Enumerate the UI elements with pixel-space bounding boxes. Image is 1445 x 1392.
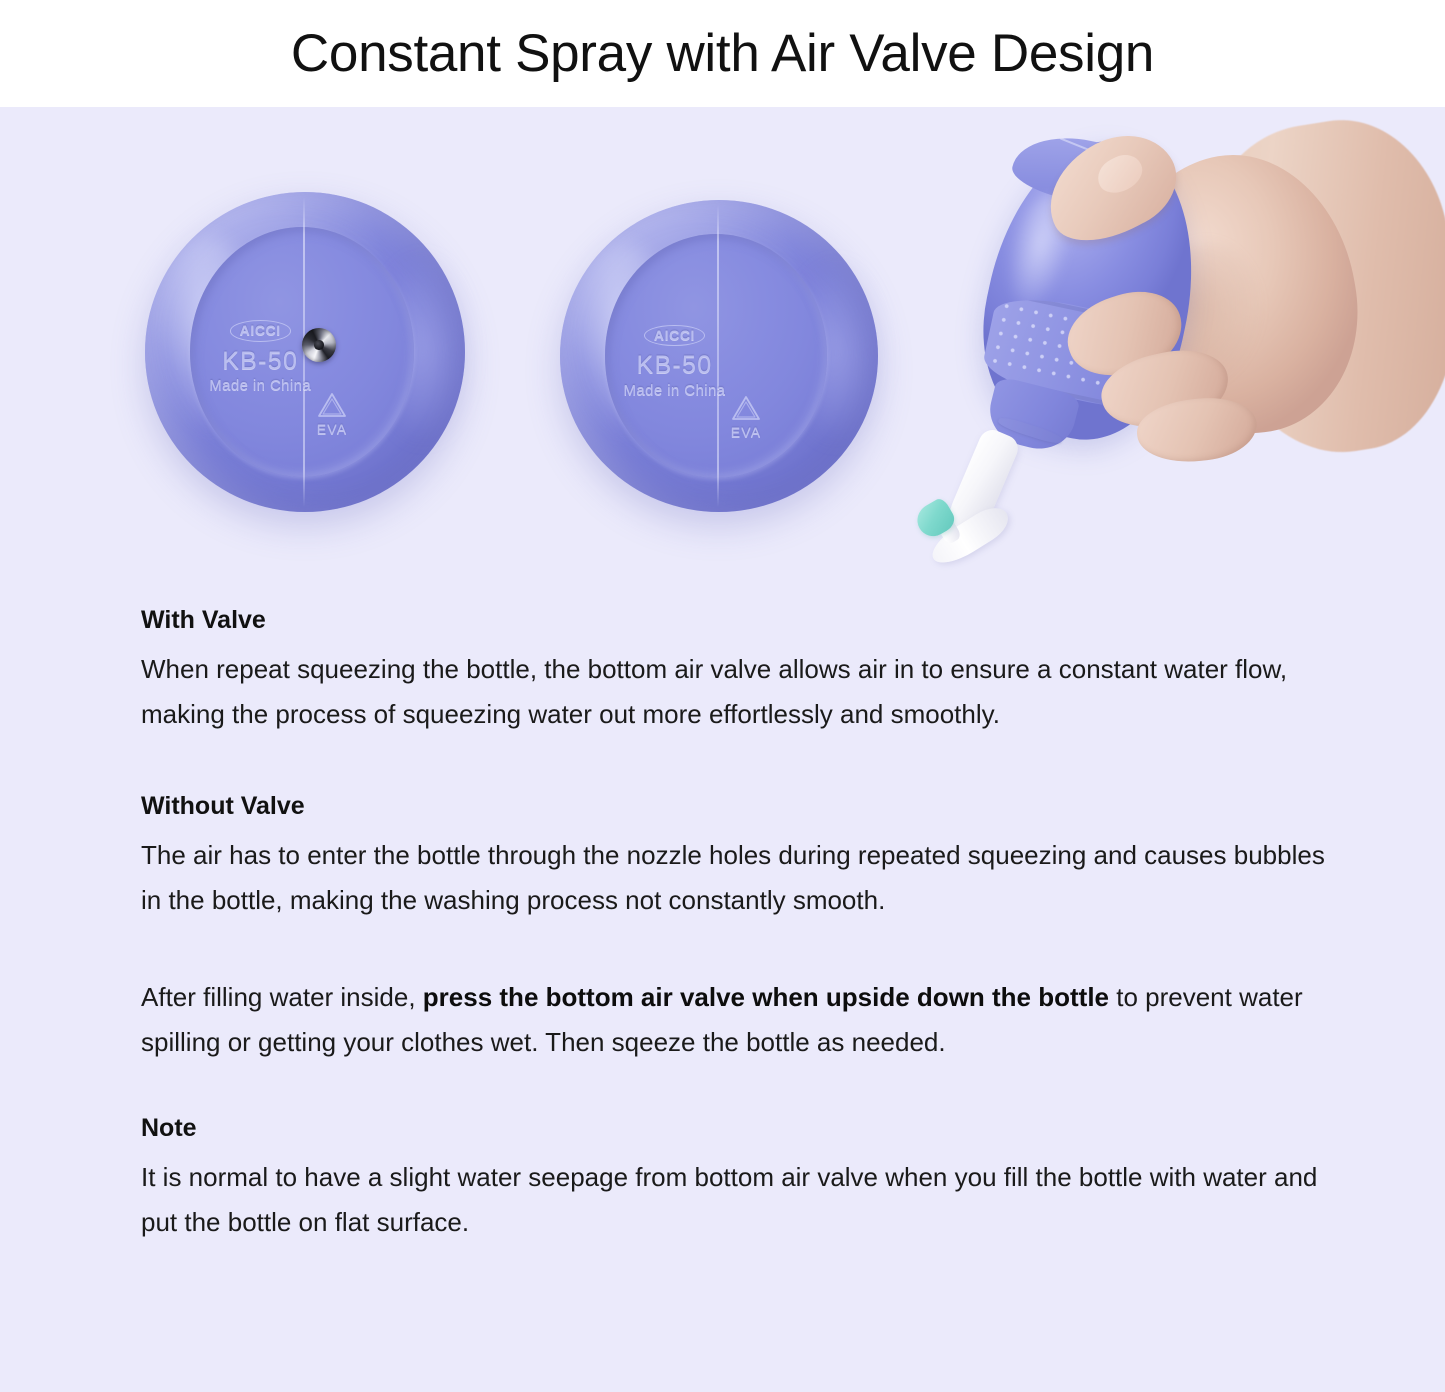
photo-bottle-bottom-without-valve: AICCI KB-50 Made in China EVA [560, 200, 878, 512]
material-code: EVA [719, 424, 773, 440]
paragraph-text: It is normal to have a slight water seep… [141, 1162, 1317, 1237]
section-gap [141, 736, 1331, 794]
paragraph-text: The air has to enter the bottle through … [141, 840, 1325, 915]
recycle-triangle-icon [729, 393, 763, 423]
section-note: Note It is normal to have a slight water… [141, 1116, 1331, 1244]
model-number: KB-50 [617, 351, 731, 381]
bottom-air-valve-metal [302, 328, 336, 362]
page-title: Constant Spray with Air Valve Design [291, 27, 1154, 80]
recycle-mark: EVA [719, 393, 773, 440]
paragraph-note: It is normal to have a slight water seep… [141, 1155, 1331, 1244]
content-area: AICCI KB-50 Made in China EVA [0, 107, 1445, 1392]
recycle-triangle-icon [315, 390, 349, 420]
heading-note: Note [141, 1116, 1331, 1141]
title-band: Constant Spray with Air Valve Design [0, 0, 1445, 107]
origin-text: Made in China [203, 377, 318, 395]
paragraph-without-valve: The air has to enter the bottle through … [141, 833, 1331, 922]
heading-without-valve: Without Valve [141, 794, 1331, 819]
section-gap [141, 1064, 1331, 1116]
section-usage-instruction: After filling water inside, press the bo… [141, 975, 1331, 1064]
instruction-lead-text: After filling water inside, [141, 982, 423, 1012]
instruction-emphasis-text: press the bottom air valve when upside d… [423, 982, 1109, 1012]
origin-text: Made in China [617, 382, 731, 400]
recycle-mark: EVA [305, 390, 359, 437]
model-number: KB-50 [203, 347, 318, 377]
paragraph-text: When repeat squeezing the bottle, the bo… [141, 654, 1287, 729]
section-gap [141, 923, 1331, 975]
product-photo-strip: AICCI KB-50 Made in China EVA [0, 107, 1445, 607]
photo-bottle-bottom-with-valve: AICCI KB-50 Made in China EVA [145, 192, 465, 512]
material-code: EVA [305, 421, 359, 437]
paragraph-usage-instruction: After filling water inside, press the bo… [141, 975, 1331, 1064]
embossed-markings: AICCI KB-50 Made in China [617, 325, 731, 400]
brand-logo-aicci: AICCI [644, 325, 705, 347]
brand-logo-aicci: AICCI [230, 320, 291, 342]
description-text-body: With Valve When repeat squeezing the bot… [141, 608, 1331, 1245]
paragraph-with-valve: When repeat squeezing the bottle, the bo… [141, 647, 1331, 736]
section-without-valve: Without Valve The air has to enter the b… [141, 794, 1331, 922]
embossed-markings: AICCI KB-50 Made in China [203, 320, 318, 395]
heading-with-valve: With Valve [141, 608, 1331, 633]
product-detail-page: Constant Spray with Air Valve Design AIC… [0, 0, 1445, 1392]
photo-hand-squeezing-bottle [905, 117, 1445, 617]
section-with-valve: With Valve When repeat squeezing the bot… [141, 608, 1331, 736]
